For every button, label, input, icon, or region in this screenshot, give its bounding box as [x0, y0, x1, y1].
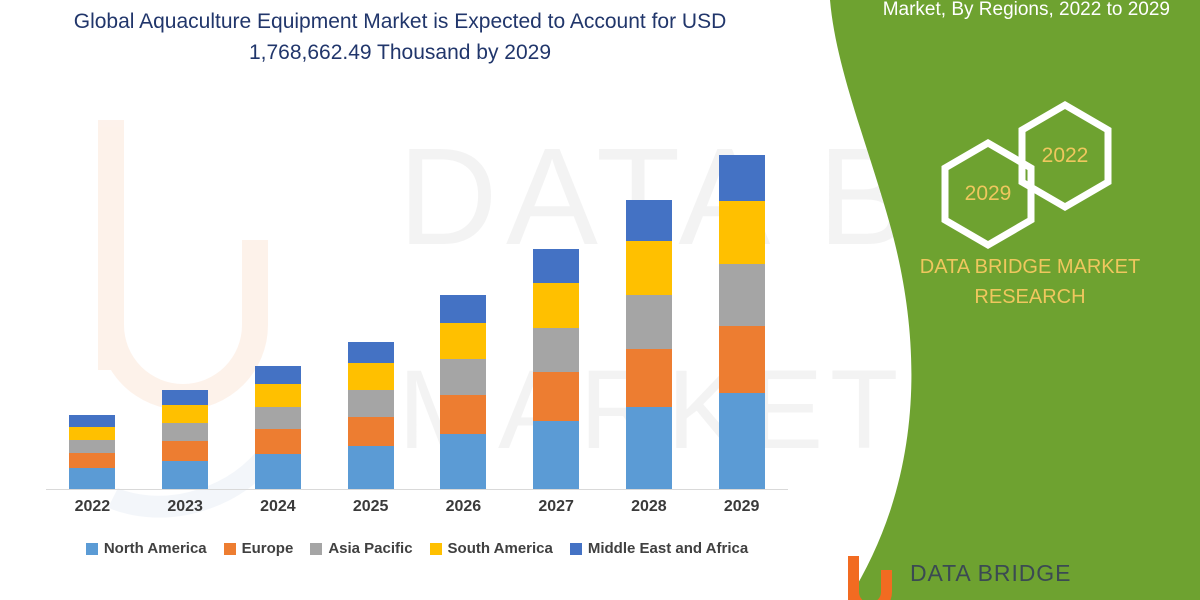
- bar-segment: [348, 417, 394, 446]
- bar-segment: [348, 342, 394, 363]
- green-panel-brand: DATA BRIDGE MARKET RESEARCH: [885, 252, 1175, 312]
- bar-segment: [719, 264, 765, 327]
- x-tick-2023: 2023: [139, 498, 232, 516]
- bar-segment: [533, 421, 579, 489]
- bar-segment: [626, 407, 672, 489]
- bar-column-2023: [139, 110, 232, 489]
- legend-item[interactable]: Middle East and Africa: [570, 540, 748, 557]
- bar-column-2027: [510, 110, 603, 489]
- bar-segment: [719, 326, 765, 393]
- legend-swatch-icon: [430, 543, 442, 555]
- bar-segment: [348, 446, 394, 489]
- legend-label: South America: [448, 540, 553, 557]
- stacked-bar: [626, 200, 672, 489]
- x-tick-2027: 2027: [510, 498, 603, 516]
- x-tick-2028: 2028: [603, 498, 696, 516]
- bar-segment: [440, 323, 486, 359]
- legend-swatch-icon: [86, 543, 98, 555]
- legend-label: North America: [104, 540, 207, 557]
- chart-title: Global Aquaculture Equipment Market is E…: [60, 6, 740, 68]
- legend-item[interactable]: Asia Pacific: [310, 540, 412, 557]
- stacked-bar: [255, 366, 301, 489]
- brand-logo: DATA BRIDGE: [838, 552, 1078, 600]
- bar-segment: [162, 423, 208, 441]
- bar-segment: [719, 201, 765, 264]
- bar-segment: [348, 390, 394, 417]
- bar-segment: [533, 372, 579, 420]
- bar-column-2025: [324, 110, 417, 489]
- bar-segment: [440, 395, 486, 434]
- stacked-bar: [719, 155, 765, 489]
- bar-segment: [255, 407, 301, 430]
- bar-segment: [162, 405, 208, 423]
- legend-label: Asia Pacific: [328, 540, 412, 557]
- bar-segment: [162, 461, 208, 489]
- legend-swatch-icon: [224, 543, 236, 555]
- bar-segment: [69, 415, 115, 426]
- bar-segment: [440, 359, 486, 395]
- bar-segment: [626, 295, 672, 349]
- bar-segment: [719, 393, 765, 489]
- bar-column-2026: [417, 110, 510, 489]
- x-tick-2029: 2029: [695, 498, 788, 516]
- bar-segment: [69, 427, 115, 440]
- x-tick-2026: 2026: [417, 498, 510, 516]
- legend-label: Middle East and Africa: [588, 540, 748, 557]
- stacked-bar: [440, 295, 486, 489]
- infographic-canvas: DATA BRIDGE MARKET RESEARCH Global Aquac…: [0, 0, 1200, 600]
- bar-segment: [162, 390, 208, 405]
- bar-column-2029: [695, 110, 788, 489]
- stacked-bar-series: [46, 110, 788, 489]
- bar-segment: [69, 440, 115, 453]
- stacked-bar: [162, 390, 208, 489]
- x-tick-2025: 2025: [324, 498, 417, 516]
- stacked-bar: [533, 249, 579, 489]
- hexagon-2029-label: 2029: [938, 138, 1038, 250]
- legend-item[interactable]: Europe: [224, 540, 294, 557]
- x-axis-tick-labels: 20222023202420252026202720282029: [46, 498, 788, 516]
- bar-segment: [162, 441, 208, 461]
- legend-swatch-icon: [310, 543, 322, 555]
- bar-segment: [533, 328, 579, 373]
- chart-legend: North AmericaEuropeAsia PacificSouth Ame…: [46, 540, 788, 557]
- bar-segment: [255, 454, 301, 489]
- hexagon-badges: 2022 2029: [915, 100, 1115, 230]
- bar-segment: [719, 155, 765, 201]
- bar-segment: [255, 384, 301, 407]
- bar-column-2028: [603, 110, 696, 489]
- bar-segment: [348, 363, 394, 390]
- bar-segment: [440, 295, 486, 323]
- bar-segment: [626, 349, 672, 407]
- stacked-bar: [348, 342, 394, 489]
- legend-swatch-icon: [570, 543, 582, 555]
- bar-segment: [533, 249, 579, 283]
- x-axis-line: [46, 489, 788, 490]
- legend-label: Europe: [242, 540, 294, 557]
- brand-logo-text: DATA BRIDGE: [910, 560, 1071, 587]
- bar-segment: [626, 241, 672, 295]
- bar-segment: [626, 200, 672, 241]
- legend-item[interactable]: North America: [86, 540, 207, 557]
- hexagon-2029: 2029: [938, 138, 1038, 250]
- bar-segment: [69, 453, 115, 468]
- x-tick-2024: 2024: [232, 498, 325, 516]
- x-tick-2022: 2022: [46, 498, 139, 516]
- bar-segment: [440, 434, 486, 489]
- legend-item[interactable]: South America: [430, 540, 553, 557]
- bar-segment: [255, 366, 301, 384]
- bar-column-2022: [46, 110, 139, 489]
- bar-segment: [69, 468, 115, 489]
- bar-column-2024: [232, 110, 325, 489]
- bar-segment: [533, 283, 579, 328]
- bar-segment: [255, 429, 301, 454]
- green-panel-title: Market, By Regions, 2022 to 2029: [870, 0, 1170, 24]
- stacked-bar: [69, 415, 115, 489]
